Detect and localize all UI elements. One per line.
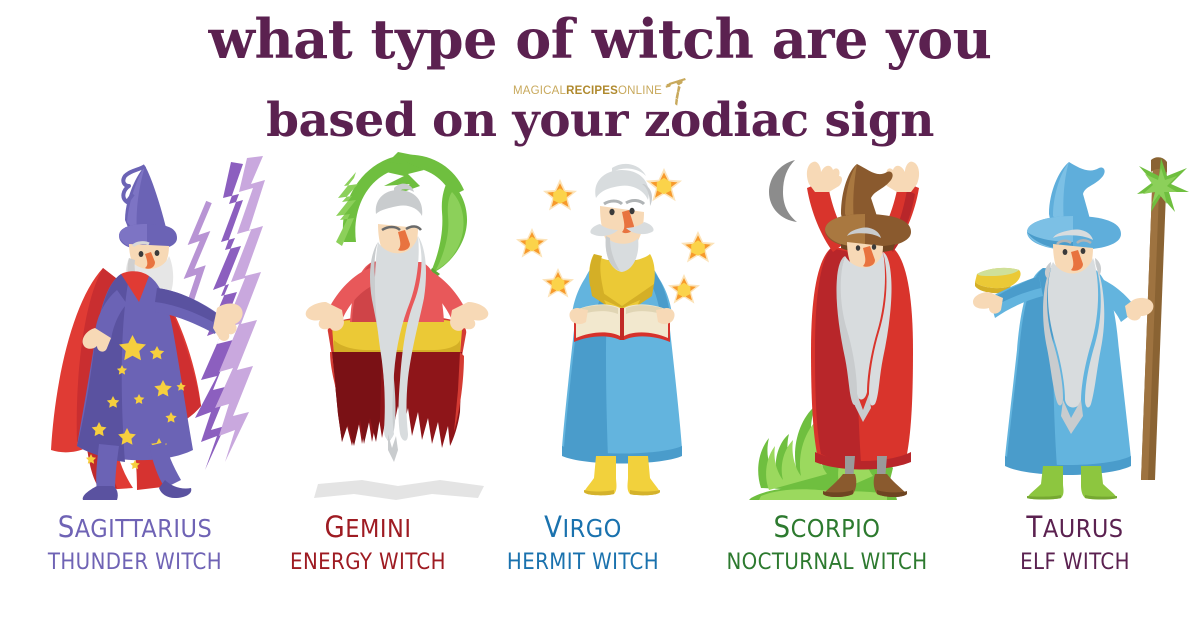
elf-wizard-hat bbox=[1027, 162, 1121, 250]
floor-shadow bbox=[314, 480, 484, 500]
witch-type-scorpio: nocturnal witch bbox=[712, 549, 942, 577]
label-taurus: Taurus elf witch bbox=[960, 503, 1190, 577]
label-sagittarius: Sagittarius thunder witch bbox=[0, 503, 270, 577]
witch-type-sagittarius: thunder witch bbox=[0, 549, 270, 577]
page-title-line1: what type of witch are you bbox=[0, 11, 1200, 67]
witch-type-gemini: energy witch bbox=[268, 549, 468, 577]
label-scorpio: Scorpio nocturnal witch bbox=[712, 503, 942, 577]
label-gemini: Gemini energy witch bbox=[268, 503, 468, 577]
figure-sagittarius-thunder-wizard bbox=[25, 150, 280, 500]
poster-canvas: what type of witch are you MAGICALRECIPE… bbox=[0, 0, 1200, 624]
figure-row bbox=[0, 150, 1200, 500]
sign-name-taurus: Taurus bbox=[960, 503, 1190, 546]
sign-name-sagittarius: Sagittarius bbox=[0, 503, 270, 546]
figure-taurus-elf-wizard bbox=[955, 150, 1190, 500]
poster-header: what type of witch are you MAGICALRECIPE… bbox=[0, 0, 1200, 150]
open-book bbox=[569, 304, 674, 342]
crescent-moon-icon bbox=[769, 160, 797, 222]
figure-scorpio-nocturnal-wizard bbox=[745, 150, 975, 500]
figure-gemini-energy-wizard bbox=[292, 150, 512, 500]
wizard-hat bbox=[119, 166, 177, 250]
witch-type-taurus: elf witch bbox=[960, 549, 1190, 577]
sign-name-scorpio: Scorpio bbox=[712, 503, 942, 546]
sign-name-virgo: Virgo bbox=[478, 503, 688, 546]
page-title-line2: based on your zodiac sign bbox=[0, 96, 1200, 146]
witch-type-virgo: hermit witch bbox=[478, 549, 688, 577]
figure-virgo-hermit-wizard bbox=[512, 150, 732, 500]
label-row: Sagittarius thunder witch Gemini energy … bbox=[0, 503, 1200, 608]
sign-name-gemini: Gemini bbox=[268, 503, 468, 546]
label-virgo: Virgo hermit witch bbox=[478, 503, 688, 577]
